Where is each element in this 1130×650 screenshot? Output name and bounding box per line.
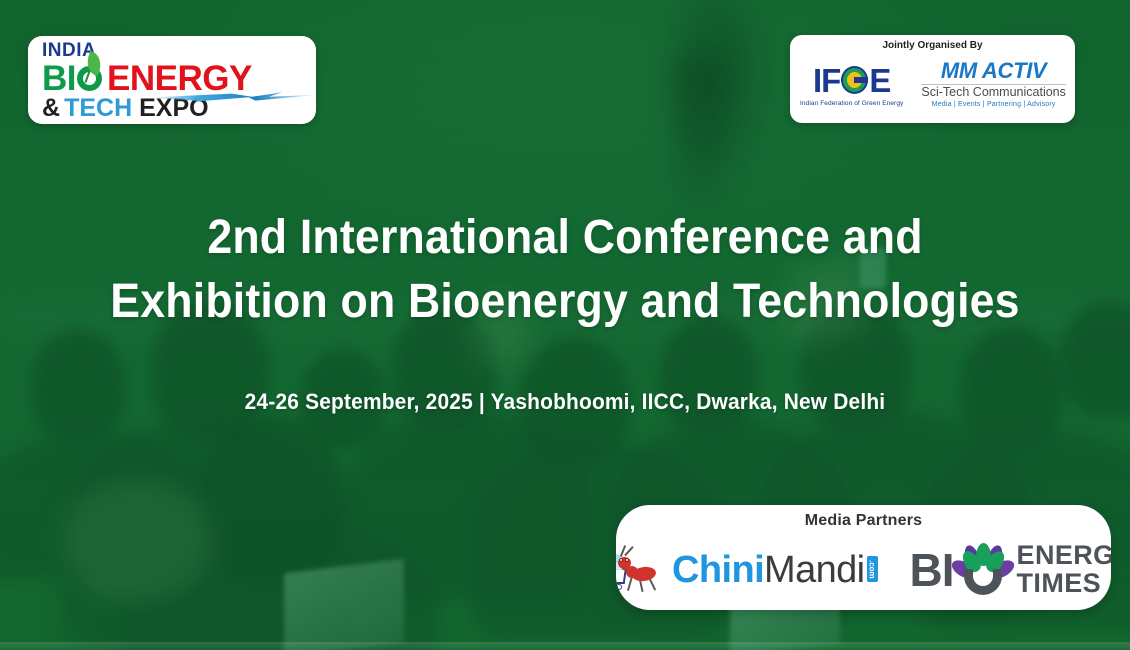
- bio-energy-times-logo[interactable]: BI ENERGY TIMES: [910, 542, 1111, 597]
- expo-bio-text: BI: [42, 61, 76, 96]
- bio-energy-text: ENERGY: [1017, 542, 1111, 570]
- bio-times-text: TIMES: [1017, 570, 1111, 598]
- mm-activ-tagline: Media | Events | Partnering | Advisory: [932, 101, 1056, 108]
- ifge-full-name: Indian Federation of Green Energy: [800, 100, 903, 107]
- bowl-u-icon: [964, 569, 1002, 595]
- chinimandi-wordmark: Chini Mandi .com: [672, 551, 877, 589]
- ifge-logo[interactable]: IF E Indian Federation of Green Energy: [800, 62, 903, 107]
- ifge-abbr-first: IF: [813, 64, 840, 97]
- headline-line-1: 2nd International Conference and: [40, 206, 1091, 270]
- petal-green-center-icon: [976, 543, 991, 566]
- chinimandi-mandi-text: Mandi: [764, 551, 865, 589]
- ifge-mark: IF E: [813, 62, 890, 99]
- expo-logo-row-india: INDIA: [42, 41, 304, 60]
- ifge-abbr-last: E: [869, 64, 890, 97]
- organisers-card[interactable]: Jointly Organised By IF E Indian Federat…: [790, 35, 1075, 123]
- leaf-bowl-o-icon: [956, 543, 1010, 597]
- ifge-globe-g-icon: [841, 66, 868, 94]
- expo-ampersand-text: &: [42, 96, 60, 121]
- mm-activ-subtitle: Sci-Tech Communications: [921, 86, 1066, 100]
- media-partners-title: Media Partners: [805, 512, 923, 530]
- media-partners-logos: Chini Mandi .com BI: [616, 530, 1111, 610]
- ant-antenna-icon: [624, 546, 633, 556]
- headline-line-2: Exhibition on Bioenergy and Technologies: [40, 270, 1091, 334]
- mm-activ-logo[interactable]: MM ACTIV Sci-Tech Communications Media |…: [921, 60, 1066, 109]
- ant-leg-icon: [627, 576, 633, 591]
- chinimandi-logo[interactable]: Chini Mandi .com: [616, 543, 878, 597]
- event-details-text: 24-26 September, 2025 | Yashobhoomi, IIC…: [28, 389, 1102, 415]
- bottom-edge-band: [0, 642, 1130, 650]
- leaf-o-icon: [76, 59, 105, 90]
- event-banner: INDIA BI ENERGY & TECH EXPO Jointly Orga…: [0, 0, 1130, 650]
- bio-energy-times-wordmark: ENERGY TIMES: [1017, 542, 1111, 597]
- expo-logo-row-bioenergy: BI ENERGY: [42, 59, 304, 95]
- ifge-globe-bar: [854, 77, 868, 83]
- organisers-heading: Jointly Organised By: [882, 40, 982, 52]
- mm-activ-title: MM ACTIV: [941, 60, 1047, 82]
- ant-with-sugar-cart-icon: [616, 543, 668, 597]
- cart-wheel-icon: [616, 584, 622, 590]
- expo-tech-text: TECH: [64, 96, 132, 121]
- chinimandi-chini-text: Chini: [672, 551, 764, 589]
- expo-energy-text: ENERGY: [107, 61, 252, 96]
- organisers-logo-row: IF E Indian Federation of Green Energy M…: [800, 53, 1065, 115]
- bio-energy-times-bi-text: BI: [910, 547, 954, 593]
- media-partners-card[interactable]: Media Partners: [616, 505, 1111, 610]
- headline-block: 2nd International Conference and Exhibit…: [0, 206, 1130, 334]
- chinimandi-com-badge: .com: [867, 556, 878, 582]
- expo-logo-card[interactable]: INDIA BI ENERGY & TECH EXPO: [28, 36, 316, 124]
